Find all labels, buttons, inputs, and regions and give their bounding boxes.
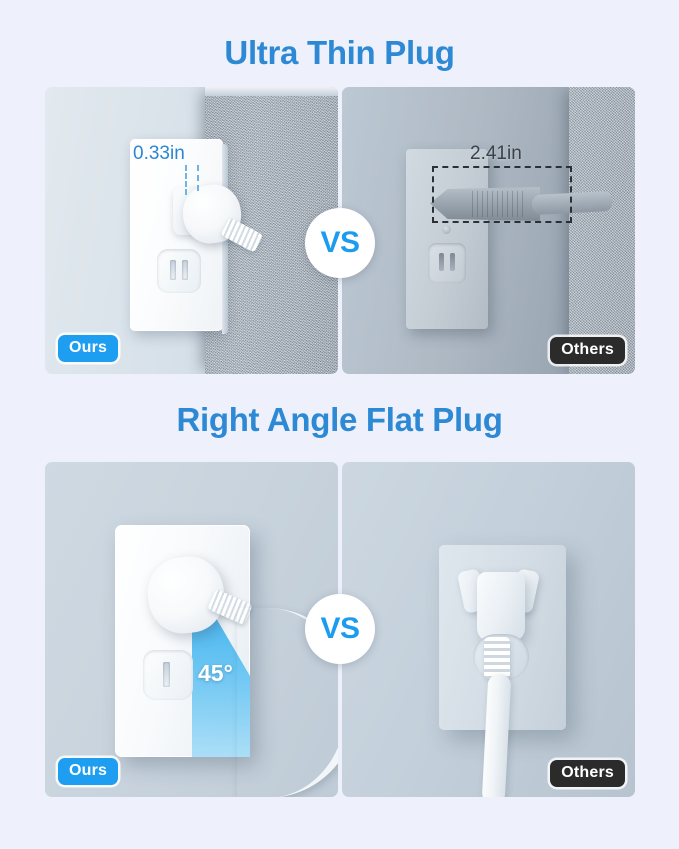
panel-ours-ultra-thin: 0.33in Ours — [45, 87, 338, 374]
outlet-screw — [442, 225, 451, 234]
bulky-plug-body — [477, 572, 525, 642]
outlet-socket — [428, 243, 466, 283]
badge-ours: Ours — [58, 758, 118, 785]
dimension-measure-box — [432, 166, 572, 223]
dimension-guide-line-right — [197, 165, 199, 191]
furniture-top-edge — [205, 87, 338, 96]
vs-badge-section-1: VS — [305, 208, 375, 278]
outlet-socket — [157, 249, 201, 293]
dimension-label-thickness-ours: 0.33in — [133, 143, 185, 165]
section-title-right-angle-flat-plug: Right Angle Flat Plug — [0, 403, 679, 436]
badge-others: Others — [550, 337, 625, 364]
outlet-socket — [143, 650, 193, 700]
panel-others-ultra-thin: 2.41in Others — [342, 87, 635, 374]
furniture-fabric-panel — [569, 87, 635, 374]
plug-comparison-page: { "page": { "background_color": "#eef1fb… — [0, 0, 679, 849]
angle-label-45-degrees: 45° — [198, 660, 233, 687]
panel-others-right-angle: Others — [342, 462, 635, 797]
dimension-guide-line-left — [185, 165, 187, 195]
badge-ours: Ours — [58, 335, 118, 362]
cable-strain-relief — [484, 637, 510, 679]
section-title-ultra-thin-plug: Ultra Thin Plug — [0, 36, 679, 69]
dimension-label-thickness-others: 2.41in — [470, 143, 522, 165]
badge-others: Others — [550, 760, 625, 787]
panel-ours-right-angle: 45° Ours — [45, 462, 338, 797]
vs-badge-section-2: VS — [305, 594, 375, 664]
